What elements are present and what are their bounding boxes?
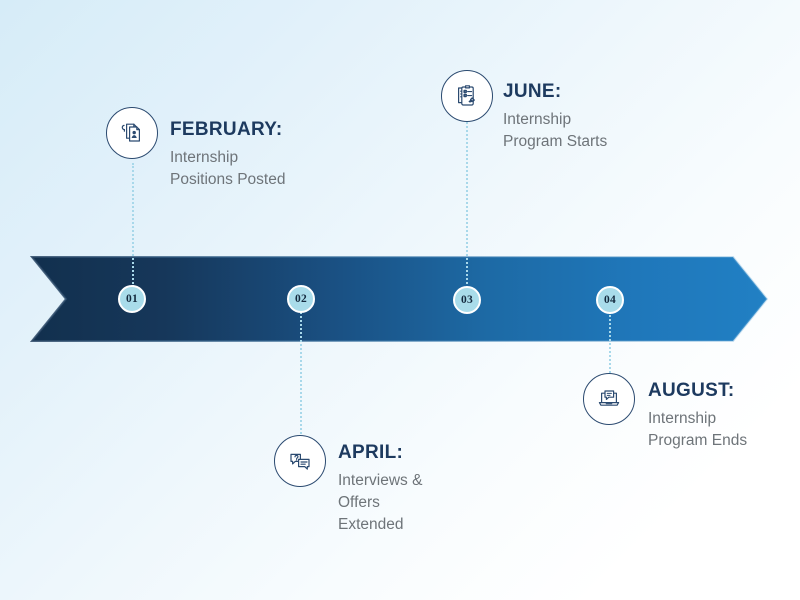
milestone-desc-line: Program Starts [503, 131, 607, 153]
id-badge-document-icon [119, 120, 145, 146]
clipboard-checklist-icon [454, 83, 480, 109]
milestone-description: Interviews & Offers Extended [338, 470, 422, 536]
milestone-icon-01[interactable] [106, 107, 158, 159]
chat-bubbles-question-icon [287, 448, 313, 474]
laptop-certificate-icon [596, 386, 622, 412]
milestone-desc-line: Internship [170, 147, 285, 169]
milestone-icon-02[interactable] [274, 435, 326, 487]
milestone-desc-line: Program Ends [648, 430, 747, 452]
connector-line-01 [132, 163, 134, 287]
step-marker-01[interactable]: 01 [118, 285, 146, 313]
milestone-title: AUGUST: [648, 381, 747, 402]
milestone-desc-line: Internship [503, 109, 607, 131]
step-marker-label: 01 [126, 293, 138, 305]
step-marker-label: 04 [604, 294, 616, 306]
timeline-infographic: 01 02 03 04 FEBRUARY: Internship Positio… [0, 0, 800, 600]
milestone-description: Internship Program Starts [503, 109, 607, 153]
milestone-desc-line: Interviews & [338, 470, 422, 492]
milestone-desc-line: Offers [338, 492, 422, 514]
connector-line-03 [466, 122, 468, 288]
connector-line-02 [300, 312, 302, 438]
step-marker-label: 02 [295, 293, 307, 305]
milestone-description: Internship Program Ends [648, 408, 747, 452]
milestone-desc-line: Internship [648, 408, 747, 430]
milestone-desc-line: Positions Posted [170, 169, 285, 191]
milestone-text-02: APRIL: Interviews & Offers Extended [338, 443, 422, 536]
milestone-title: APRIL: [338, 443, 422, 464]
milestone-title: JUNE: [503, 82, 607, 103]
milestone-text-04: AUGUST: Internship Program Ends [648, 381, 747, 452]
step-marker-label: 03 [461, 294, 473, 306]
milestone-desc-line: Extended [338, 514, 422, 536]
step-marker-02[interactable]: 02 [287, 285, 315, 313]
connector-line-04 [609, 312, 611, 376]
milestone-title: FEBRUARY: [170, 120, 285, 141]
milestone-icon-04[interactable] [583, 373, 635, 425]
milestone-icon-03[interactable] [441, 70, 493, 122]
milestone-text-01: FEBRUARY: Internship Positions Posted [170, 120, 285, 191]
milestone-description: Internship Positions Posted [170, 147, 285, 191]
milestone-text-03: JUNE: Internship Program Starts [503, 82, 607, 153]
step-marker-04[interactable]: 04 [596, 286, 624, 314]
step-marker-03[interactable]: 03 [453, 286, 481, 314]
